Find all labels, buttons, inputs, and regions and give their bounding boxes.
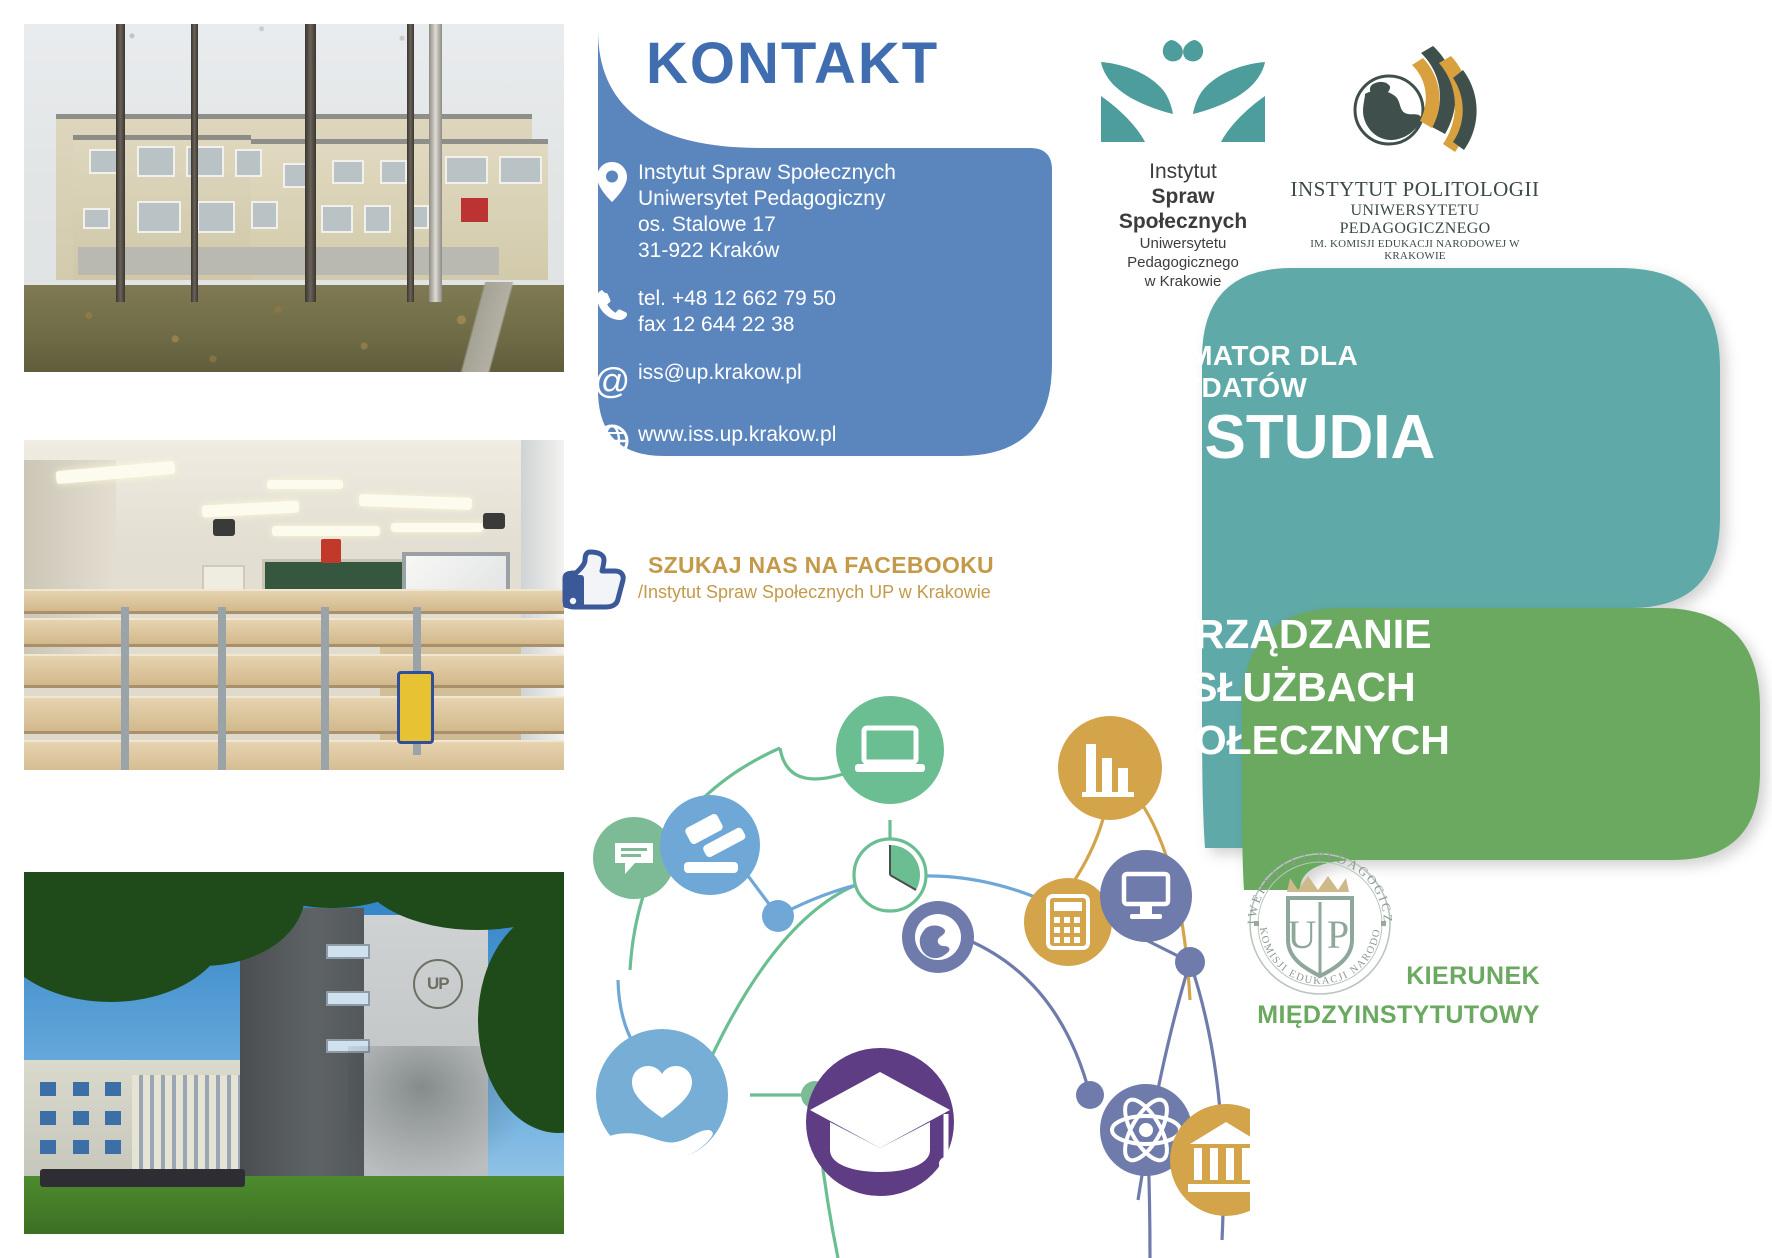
photo-institute-building-front: [24, 24, 564, 372]
thumbs-up-icon: [560, 548, 634, 619]
kierunek-line-1: KIERUNEK: [1240, 962, 1540, 991]
politologia-line-2: UNIWERSYTETU PEDAGOGICZNEGO: [1290, 202, 1540, 238]
contact-phone: tel. +48 12 662 79 50 fax 12 644 22 38: [638, 286, 836, 338]
facebook-callout[interactable]: SZUKAJ NAS NA FACEBOOKU /Instytut Spraw …: [560, 548, 1030, 619]
node-monitor: [1100, 850, 1192, 942]
node-graduation-cap: [806, 1048, 954, 1196]
seal-monogram-u: U: [1288, 912, 1317, 957]
contact-website[interactable]: www.iss.up.krakow.pl: [638, 422, 836, 448]
facebook-headline: SZUKAJ NAS NA FACEBOOKU: [648, 552, 994, 579]
contact-row-phone: tel. +48 12 662 79 50 fax 12 644 22 38: [586, 286, 1046, 338]
network-diagram: [590, 640, 1250, 1258]
node-pie-chart: [854, 839, 926, 911]
informator-large-line: NA STUDIA: [1100, 406, 1520, 470]
contact-row-address: Instytut Spraw Społecznych Uniwersytet P…: [586, 160, 1046, 264]
globe-swoosh-icon: [1315, 159, 1515, 176]
sprout-leaves-icon: [1093, 133, 1273, 150]
contact-email[interactable]: iss@up.krakow.pl: [638, 360, 802, 386]
at-sign-icon: @: [586, 360, 638, 400]
up-crest-on-wall-icon: UP: [413, 959, 463, 1009]
kierunek-block: KIERUNEK MIĘDZYINSTYTUTOWY: [1240, 962, 1540, 1030]
iss-line-2: Spraw Społecznych: [1088, 184, 1278, 234]
facebook-page-name[interactable]: /Instytut Spraw Społecznych UP w Krakowi…: [638, 582, 994, 603]
globe-icon: [586, 422, 638, 458]
connector-dot: [762, 900, 794, 932]
connector-dot: [1076, 1081, 1104, 1109]
politologia-line-1: INSTYTUT POLITOLOGII: [1290, 177, 1540, 202]
svg-text:@: @: [594, 362, 631, 400]
contact-details: Instytut Spraw Społecznych Uniwersytet P…: [586, 160, 1046, 480]
connector-dot: [1175, 947, 1205, 977]
photo-lecture-hall: [24, 440, 564, 770]
seal-monogram-p: P: [1327, 912, 1349, 957]
photo-campus-building: UP: [24, 872, 564, 1234]
page-title: KONTAKT: [646, 30, 939, 97]
contact-row-website[interactable]: www.iss.up.krakow.pl: [586, 422, 1046, 458]
contact-address: Instytut Spraw Społecznych Uniwersytet P…: [638, 160, 896, 264]
kierunek-line-2: MIĘDZYINSTYTUTOWY: [1240, 1001, 1540, 1030]
node-heart-in-hand: [596, 1029, 728, 1164]
phone-icon: [586, 286, 638, 322]
node-globe: [902, 901, 974, 973]
node-bar-chart: [1058, 716, 1162, 820]
informator-small-line: INFORMATOR DLA KANDYDATÓW: [1100, 340, 1520, 404]
iss-line-1: Instytut: [1088, 159, 1278, 184]
contact-row-email[interactable]: @ iss@up.krakow.pl: [586, 360, 1046, 400]
logo-instytut-politologii: INSTYTUT POLITOLOGII UNIWERSYTETU PEDAGO…: [1290, 32, 1540, 262]
node-laptop: [836, 696, 944, 804]
bubble-informator: INFORMATOR DLA KANDYDATÓW NA STUDIA: [1100, 340, 1520, 470]
brochure-canvas: UP KONTAKT Instytut Spraw Społecznych Un…: [0, 0, 1772, 1258]
location-pin-icon: [586, 160, 638, 202]
node-calculator: [1024, 878, 1112, 966]
node-gavel: [660, 795, 760, 895]
